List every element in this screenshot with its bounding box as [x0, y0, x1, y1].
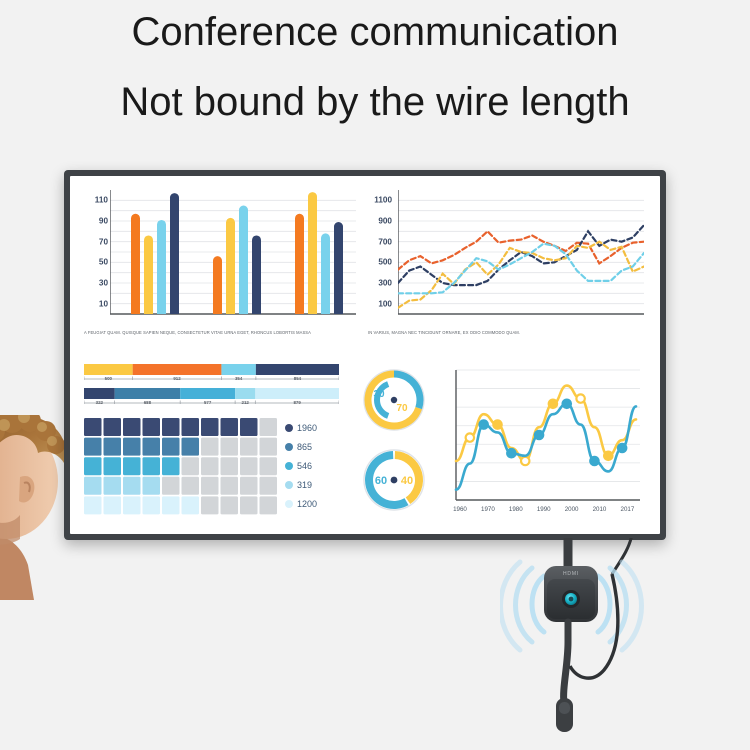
heatmap-cell: [221, 477, 239, 495]
bar: [213, 256, 222, 314]
headline-line-2: Not bound by the wire length: [0, 80, 750, 125]
heatmap-legend-value: 1200: [297, 499, 317, 509]
heatmap-cell: [240, 438, 258, 456]
donut-charts-panel: 30706040: [352, 364, 444, 524]
stack-segment: [84, 364, 133, 375]
line-chart-caption: IN VARIUS, MAGNA NEC TINCIDUNT ORNARE, E…: [368, 330, 644, 336]
heatmap-cell: [162, 477, 180, 495]
curve-marker: [521, 457, 529, 465]
heatmap-cell: [123, 477, 141, 495]
bar: [334, 222, 343, 314]
heatmap-legend-value: 865: [297, 442, 312, 452]
line-chart-panel: 1003005007009001100 IN VARIUS, MAGNA NEC…: [368, 186, 644, 351]
bar: [157, 220, 166, 314]
curve-marker: [479, 420, 487, 428]
heatmap-panel: 19608655463191200: [84, 418, 339, 522]
stack-segment: [84, 388, 115, 399]
curve-marker: [535, 431, 543, 439]
heatmap-legend: 19608655463191200: [285, 418, 339, 513]
stack-segment-label: 688: [144, 400, 151, 405]
bar-y-tick: 50: [99, 258, 108, 267]
heatmap-cell: [104, 457, 122, 475]
heatmap-cell: [143, 418, 161, 436]
heatmap-cell: [143, 457, 161, 475]
heatmap-cell: [182, 457, 200, 475]
line-y-tick: 300: [378, 279, 392, 288]
heatmap-cell: [104, 418, 122, 436]
heatmap-cell: [162, 438, 180, 456]
stack-segment-label: 322: [96, 400, 103, 405]
donut-label: 40: [401, 475, 413, 487]
curve-marker: [549, 400, 557, 408]
heatmap-cell: [84, 438, 102, 456]
heatmap-cell: [221, 418, 239, 436]
promo-image: Conference communication Not bound by th…: [0, 0, 750, 750]
stack-segment: [255, 388, 339, 399]
bar-chart-y-axis: 1030507090110: [84, 186, 110, 328]
heatmap-cell: [182, 418, 200, 436]
donut-center-dot: [391, 477, 398, 484]
bar: [252, 235, 261, 314]
heatmap-legend-item: 546: [285, 456, 339, 475]
bar: [226, 218, 235, 314]
line-chart-y-axis: 1003005007009001100: [368, 186, 394, 328]
stack-segment: [256, 364, 339, 375]
curve-marker: [493, 420, 501, 428]
heatmap-cell: [240, 418, 258, 436]
heatmap-cell: [84, 457, 102, 475]
bar-chart-panel: 1030507090110 A FEUGIAT QUAM. QUISQUE SA…: [84, 186, 356, 351]
heatmap-cell: [162, 457, 180, 475]
signal-waves-left: [501, 562, 545, 650]
line-y-tick: 900: [378, 217, 392, 226]
line-y-tick: 500: [378, 258, 392, 267]
heatmap-cell: [123, 438, 141, 456]
bar-chart-caption: A FEUGIAT QUAM. QUISQUE SAPIEN NEQUE, CO…: [84, 330, 356, 336]
line-y-tick: 1100: [374, 196, 392, 205]
curve-x-tick: 2017: [621, 506, 635, 513]
heatmap-legend-item: 1960: [285, 418, 339, 437]
signal-waves-right: [598, 562, 642, 650]
legend-dot-icon: [285, 462, 293, 470]
curve-x-tick: 1990: [537, 506, 551, 513]
heatmap-cell: [123, 418, 141, 436]
stack-segment: [115, 388, 181, 399]
heatmap-cell: [104, 477, 122, 495]
heatmap-cell: [104, 438, 122, 456]
legend-dot-icon: [285, 481, 293, 489]
heatmap-cell: [260, 477, 278, 495]
stack-segment: [133, 364, 222, 375]
heatmap-legend-item: 1200: [285, 494, 339, 513]
stack-segment-label: 354: [235, 376, 242, 381]
heatmap-cell: [162, 418, 180, 436]
heatmap-cell: [240, 496, 258, 514]
heatmap-legend-item: 865: [285, 437, 339, 456]
heatmap-cell: [143, 438, 161, 456]
headline-line-1: Conference communication: [0, 10, 750, 55]
display-screen: 1030507090110 A FEUGIAT QUAM. QUISQUE SA…: [70, 176, 660, 534]
stack-segment: [180, 388, 235, 399]
heatmap-legend-value: 1960: [297, 423, 317, 433]
heatmap-legend-value: 319: [297, 480, 312, 490]
heatmap-legend-item: 319: [285, 475, 339, 494]
stack-segment-label: 212: [242, 400, 249, 405]
heatmap-cell: [221, 496, 239, 514]
bar-y-tick: 110: [95, 196, 108, 205]
legend-dot-icon: [285, 424, 293, 432]
bar: [321, 233, 330, 314]
curve-x-tick: 2000: [565, 506, 579, 513]
heatmap-cell: [260, 496, 278, 514]
heatmap-cell: [162, 496, 180, 514]
line-series: [398, 231, 644, 269]
donut-label: 30: [373, 389, 385, 400]
stack-segment: [235, 388, 255, 399]
heatmap-cell: [104, 496, 122, 514]
stack-segment-label: 577: [204, 400, 211, 405]
bar: [131, 214, 140, 314]
heatmap-cell: [182, 438, 200, 456]
heatmap-cell: [182, 496, 200, 514]
heatmap-cell: [182, 477, 200, 495]
stack-segment: [221, 364, 255, 375]
curve-x-tick: 1970: [481, 506, 495, 513]
bar: [170, 193, 179, 314]
line-series: [398, 225, 644, 285]
device-bottom-cable: [564, 622, 568, 704]
stack-segment-label: 912: [173, 376, 180, 381]
heatmap-cell: [123, 496, 141, 514]
stacked-bars-panel: 500912354854322688577212879: [84, 364, 339, 406]
stack-segment-label: 879: [293, 400, 300, 405]
bar-y-tick: 90: [99, 217, 108, 226]
curve-marker: [563, 400, 571, 408]
line-y-tick: 100: [378, 299, 392, 308]
legend-dot-icon: [285, 443, 293, 451]
heatmap-legend-value: 546: [297, 461, 312, 471]
heatmap-cell: [84, 477, 102, 495]
donut-label: 60: [375, 475, 387, 487]
bar: [239, 206, 248, 315]
stack-segment-label: 854: [294, 376, 301, 381]
bar: [144, 235, 153, 314]
heatmap-cell: [201, 496, 219, 514]
curve-marker: [466, 433, 474, 441]
donut-label: 70: [396, 403, 408, 414]
bar-y-tick: 70: [99, 237, 108, 246]
curve-marker: [507, 449, 515, 457]
heatmap-cell: [84, 418, 102, 436]
curve-chart-panel: 1960197019801990200020102017: [452, 364, 644, 522]
curve-marker: [604, 452, 612, 460]
heatmap-cell: [260, 438, 278, 456]
heatmap-cell: [221, 438, 239, 456]
bar: [308, 192, 317, 314]
heatmap-cell: [240, 457, 258, 475]
wall-display[interactable]: 1030507090110 A FEUGIAT QUAM. QUISQUE SA…: [64, 170, 666, 540]
curve-marker: [618, 444, 626, 452]
heatmap-cell: [84, 496, 102, 514]
line-y-tick: 700: [378, 237, 392, 246]
heatmap-cell: [240, 477, 258, 495]
curve-x-tick: 2010: [593, 506, 607, 513]
heatmap-cell: [260, 418, 278, 436]
heatmap-cell: [201, 438, 219, 456]
curve-x-tick: 1980: [509, 506, 523, 513]
bar-y-tick: 10: [99, 299, 108, 308]
curve-marker: [576, 394, 584, 402]
curve-marker: [590, 457, 598, 465]
heatmap-cell: [221, 457, 239, 475]
stack-segment-label: 500: [105, 376, 112, 381]
heatmap-cell: [201, 457, 219, 475]
heatmap-cell: [201, 418, 219, 436]
bar-y-tick: 30: [99, 279, 108, 288]
heatmap-cell: [143, 477, 161, 495]
heatmap-cell: [143, 496, 161, 514]
curve-x-tick: 1960: [453, 506, 467, 513]
heatmap-cell: [260, 457, 278, 475]
wireless-transmitter-device[interactable]: HDMI: [500, 538, 690, 738]
heatmap-cell: [201, 477, 219, 495]
bar: [295, 214, 304, 314]
device-brand-label: HDMI: [563, 571, 579, 577]
legend-dot-icon: [285, 500, 293, 508]
heatmap-cell: [123, 457, 141, 475]
